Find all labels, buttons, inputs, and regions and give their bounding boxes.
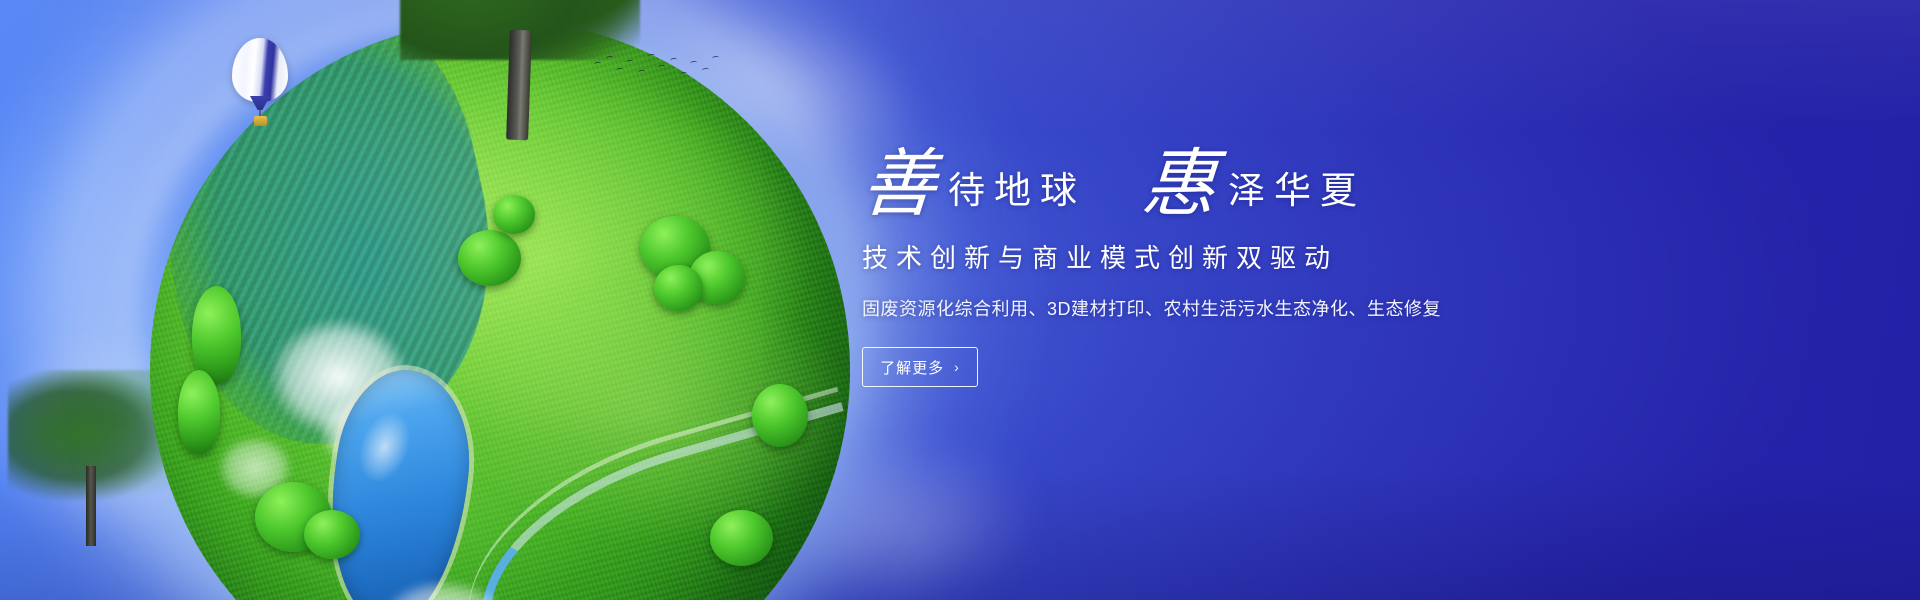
- learn-more-label: 了解更多: [880, 357, 944, 378]
- planet-tree-icon: [710, 510, 773, 566]
- hot-air-balloon-icon: [232, 38, 288, 130]
- learn-more-button[interactable]: 了解更多 ›: [862, 347, 978, 387]
- bird-flock-icon: [592, 52, 722, 92]
- side-tree-trunk: [86, 466, 96, 546]
- headline-char-2: 惠: [1140, 150, 1221, 220]
- chevron-right-icon: ›: [954, 360, 960, 374]
- balloon-envelope: [232, 38, 288, 102]
- hero-description: 固废资源化综合利用、3D建材打印、农村生活污水生态净化、生态修复: [862, 295, 1622, 321]
- hero-subtitle: 技术创新与商业模式创新双驱动: [862, 238, 1622, 275]
- balloon-basket: [254, 116, 267, 126]
- planet-tree-icon: [493, 195, 535, 234]
- hero-banner: 善 待地球 惠 泽华夏 技术创新与商业模式创新双驱动 固废资源化综合利用、3D建…: [0, 0, 1920, 600]
- headline-text-2: 泽华夏: [1218, 173, 1366, 220]
- headline-text-1: 待地球: [938, 173, 1086, 220]
- planet-tree-icon: [752, 384, 808, 447]
- planet-tree-icon: [654, 265, 703, 311]
- headline-char-1: 善: [860, 150, 941, 220]
- hero-copy: 善 待地球 惠 泽华夏 技术创新与商业模式创新双驱动 固废资源化综合利用、3D建…: [862, 128, 1622, 387]
- planet-tree-icon: [178, 370, 220, 454]
- page-title: 善 待地球 惠 泽华夏: [862, 128, 1622, 220]
- planet-tree-icon: [304, 510, 360, 559]
- planet-tree-icon: [458, 230, 521, 286]
